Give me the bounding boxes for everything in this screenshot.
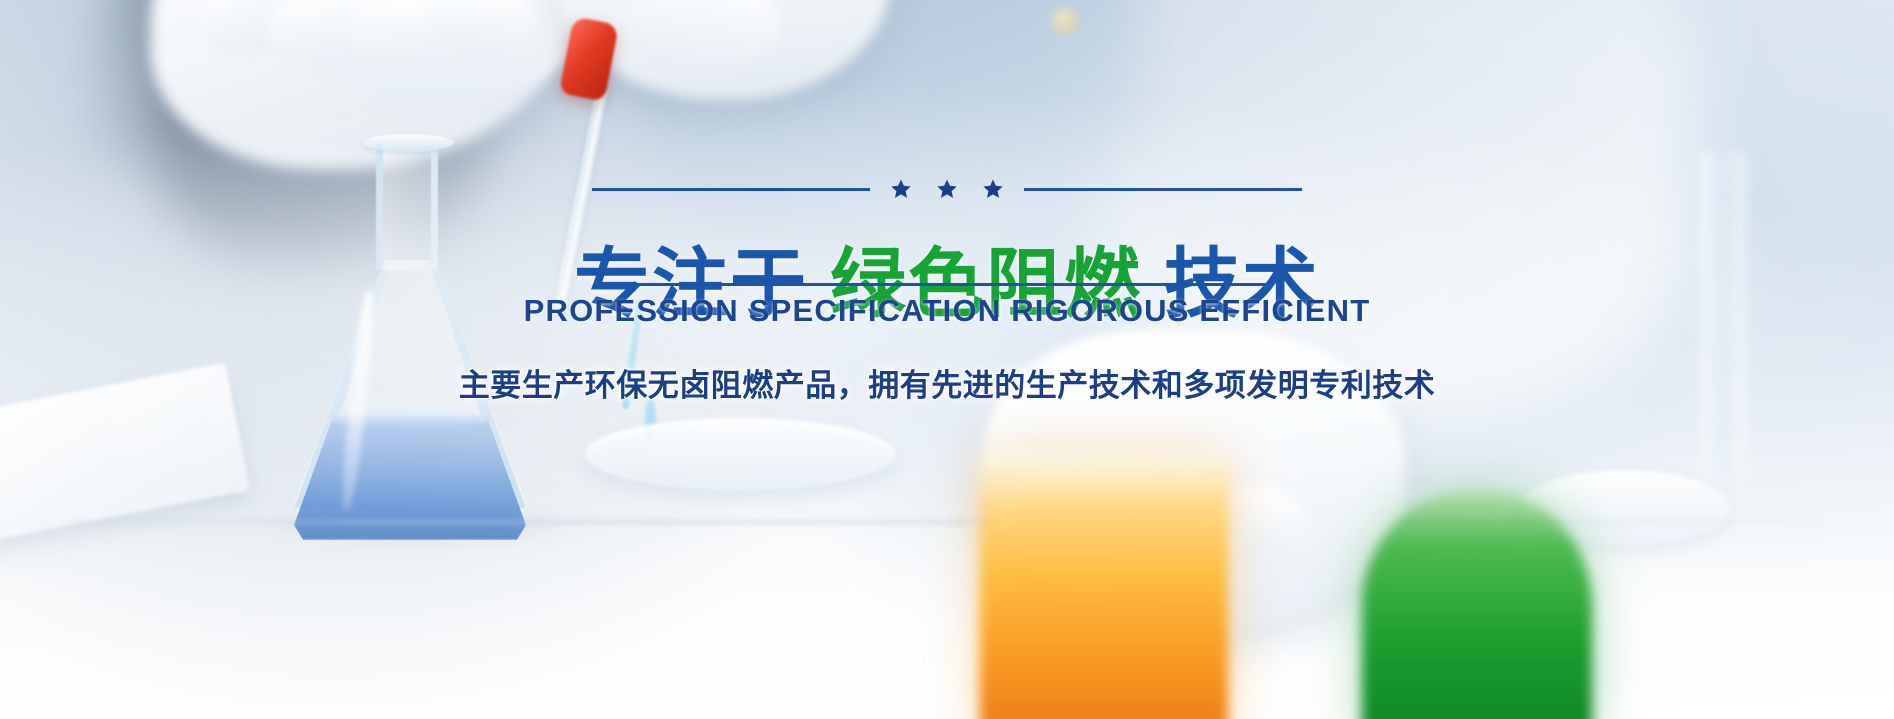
english-subtitle: PROFESSION SPECIFICATION RIGOROUS EFFICI… bbox=[524, 293, 1371, 329]
star-icon bbox=[890, 178, 912, 200]
banner-copy: 专注于绿色阻燃技术 PROFESSION SPECIFICATION RIGOR… bbox=[0, 0, 1894, 719]
star-icon bbox=[982, 178, 1004, 200]
divider-line-left bbox=[592, 188, 870, 191]
divider-line-under-title bbox=[627, 283, 1267, 286]
banner-hero: 专注于绿色阻燃技术 PROFESSION SPECIFICATION RIGOR… bbox=[0, 0, 1894, 719]
decorative-rule-with-stars bbox=[592, 178, 1302, 200]
divider-line-right bbox=[1024, 188, 1302, 191]
description-text: 主要生产环保无卤阻燃产品，拥有先进的生产技术和多项发明专利技术 bbox=[459, 360, 1436, 405]
star-icon bbox=[936, 178, 958, 200]
star-group bbox=[884, 178, 1010, 200]
